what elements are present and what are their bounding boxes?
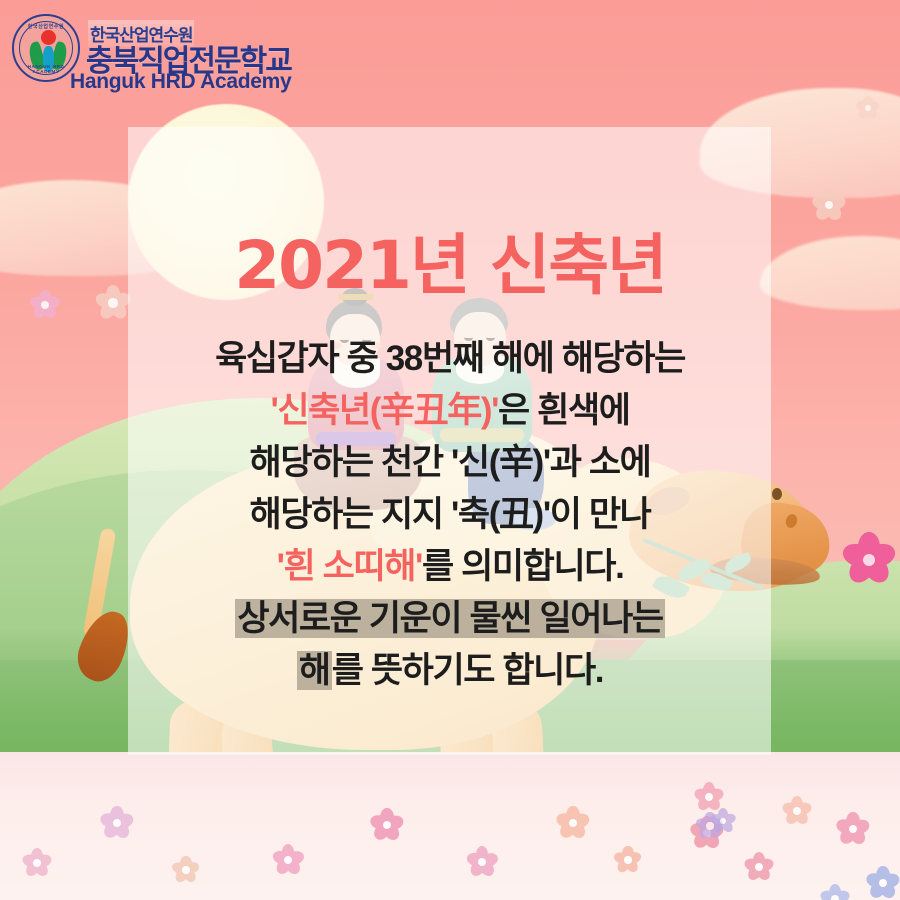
flower-icon [710,808,736,834]
body-text-segment: 육십갑자 중 38번째 해에 해당하는 [215,339,685,378]
body-line: '흰 소띠해'를 의미합니다. [0,541,900,593]
body-text-segment: 를 뜻하기도 합니다. [332,651,603,690]
body-text-segment: 은 흰색에 [498,391,630,430]
flower-icon [272,844,304,876]
body-line: 해를 뜻하기도 합니다. [0,645,900,697]
flower-icon [22,848,52,878]
body-line: 육십갑자 중 38번째 해에 해당하는 [0,333,900,385]
body-line: '신축년(辛丑年)'은 흰색에 [0,385,900,437]
body-line: 해당하는 지지 '축(丑)'이 만나 [0,489,900,541]
logo-arc-top-text: 한국산업연수원 [14,23,78,30]
page-title: 2021년 신축년 [0,212,900,308]
flower-icon [782,796,812,826]
flower-icon [820,884,850,900]
flower-icon [866,866,900,900]
flower-icon [466,846,498,878]
flower-icon [614,846,642,874]
body-text-segment: 해당하는 지지 '축(丑)'이 만나 [250,495,651,534]
body-line: 상서로운 기운이 물씬 일어나는 [0,593,900,645]
brand-header: 한국산업연수원 HANGUK HRD ACADEMY 한국산업연수원 충북직업전… [0,0,900,104]
body-text-segment: 를 의미합니다. [422,547,623,586]
body-text-segment: '신축년(辛丑年)' [270,391,498,430]
header-english-name: Hanguk HRD Academy [70,70,291,94]
flower-icon [836,812,870,846]
body-text-segment: 해 [297,651,332,690]
flower-icon [370,808,404,842]
flower-icon [744,852,774,882]
body-text-block: 육십갑자 중 38번째 해에 해당하는'신축년(辛丑年)'은 흰색에해당하는 천… [0,333,900,697]
flower-icon [172,856,200,884]
logo-red-dot [41,30,56,45]
body-line: 해당하는 천간 '신(辛)'과 소에 [0,437,900,489]
body-text-segment: '흰 소띠해' [277,547,422,586]
body-text-segment: 해당하는 천간 '신(辛)'과 소에 [250,443,651,482]
logo-arc-bottom-text: HANGUK HRD ACADEMY [14,64,78,74]
new-year-card: 한국산업연수원 HANGUK HRD ACADEMY 한국산업연수원 충북직업전… [0,0,900,900]
flower-icon [556,806,590,840]
flower-icon [100,806,134,840]
body-text-segment: 상서로운 기운이 물씬 일어나는 [235,599,664,638]
